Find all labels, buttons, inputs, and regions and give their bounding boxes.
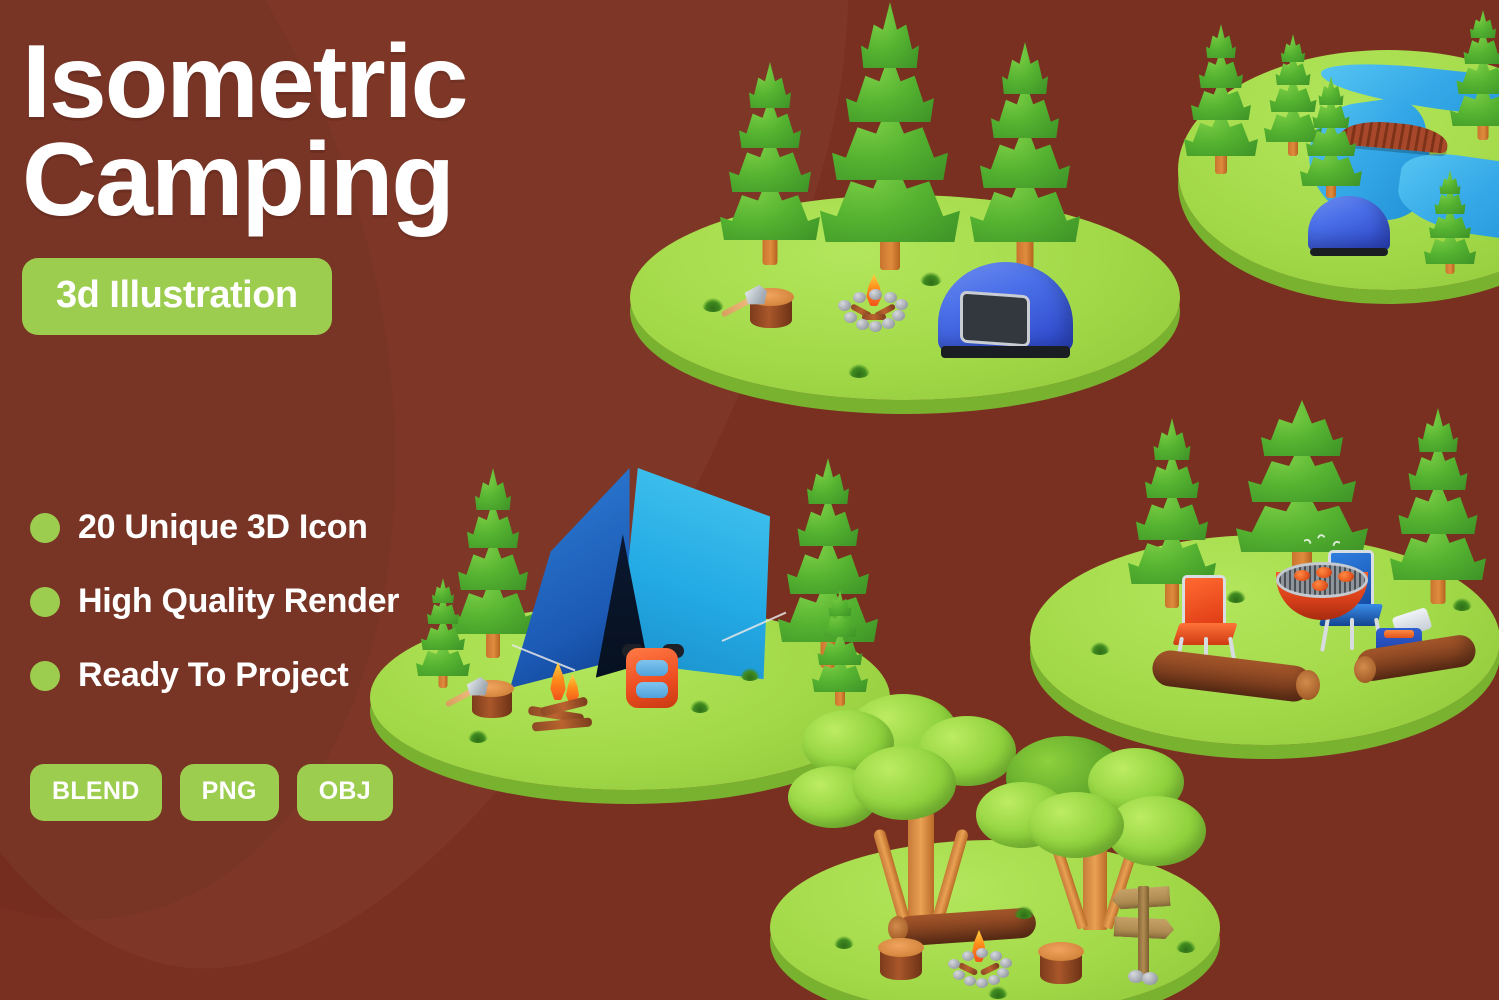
tree-trunk bbox=[1431, 578, 1446, 604]
pine-tree bbox=[1300, 76, 1362, 198]
pine-tree bbox=[1424, 170, 1476, 274]
grass-tuft bbox=[920, 272, 942, 286]
grass-tuft bbox=[1014, 906, 1034, 919]
cooler-contents bbox=[1384, 630, 1414, 638]
tree-tier bbox=[861, 2, 919, 68]
tree-trunk bbox=[486, 632, 500, 658]
fire-stone bbox=[869, 321, 882, 332]
tree-tier bbox=[1261, 400, 1343, 456]
log-end bbox=[1354, 656, 1376, 683]
fire-stone bbox=[856, 319, 869, 330]
tree-tier bbox=[1206, 24, 1236, 58]
axe-in-stump-icon bbox=[470, 680, 514, 718]
grass-tuft bbox=[740, 668, 760, 681]
pine-tree bbox=[720, 60, 820, 265]
tree-stump-icon bbox=[878, 938, 924, 980]
page-title-line2: Camping bbox=[22, 132, 682, 230]
fire-stone bbox=[895, 299, 908, 310]
promo-panel: Isometric Camping 3d Illustration bbox=[22, 34, 682, 335]
log-end bbox=[1296, 670, 1320, 700]
grass-tuft bbox=[1452, 598, 1472, 611]
grass-tuft bbox=[848, 364, 870, 378]
tent-base bbox=[1310, 248, 1389, 256]
campfire-icon bbox=[838, 288, 908, 334]
dot-icon bbox=[30, 661, 60, 691]
broadleaf-tree bbox=[970, 720, 1220, 930]
fire-stone bbox=[892, 310, 905, 321]
feature-item: Ready To Project bbox=[30, 656, 399, 695]
format-tag-png: PNG bbox=[180, 764, 279, 821]
grill-patty bbox=[1294, 570, 1310, 581]
fire-stone bbox=[838, 300, 851, 311]
feature-label: Ready To Project bbox=[78, 656, 348, 695]
grass-tuft bbox=[1226, 590, 1246, 603]
tree-tier bbox=[1470, 10, 1496, 38]
fire-stone bbox=[844, 312, 857, 323]
chair-back bbox=[1182, 575, 1226, 627]
grass-tuft bbox=[1176, 940, 1196, 953]
fire-stone bbox=[953, 970, 965, 980]
poster-canvas: Isometric Camping 3d Illustration 20 Uni… bbox=[0, 0, 1499, 1000]
campfire-icon bbox=[528, 680, 602, 732]
grass-tuft bbox=[690, 700, 710, 713]
fire-stone bbox=[882, 318, 895, 329]
feature-item: 20 Unique 3D Icon bbox=[30, 508, 399, 547]
signpost-base-stone bbox=[1142, 972, 1158, 985]
grass-tuft bbox=[834, 936, 854, 949]
page-title-line1: Isometric bbox=[22, 34, 682, 132]
scene-riverside-camp bbox=[1160, 10, 1499, 310]
fire-stone bbox=[990, 951, 1002, 961]
feature-label: High Quality Render bbox=[78, 582, 399, 621]
scene-shade-trees bbox=[770, 690, 1240, 1000]
grass-tuft bbox=[702, 298, 724, 312]
fire-stone bbox=[962, 951, 974, 961]
format-tag-obj: OBJ bbox=[297, 764, 393, 821]
tent-door bbox=[960, 291, 1030, 347]
leaf-clump bbox=[852, 746, 956, 820]
pine-tree bbox=[970, 40, 1080, 270]
signpost-pole bbox=[1138, 886, 1149, 978]
tent-body bbox=[1308, 196, 1390, 252]
tree-tier bbox=[1418, 408, 1458, 452]
tree-stump-icon bbox=[1038, 942, 1084, 984]
pine-tree bbox=[820, 0, 960, 270]
tent-base bbox=[941, 346, 1071, 358]
tree-tier bbox=[1440, 170, 1461, 194]
feature-item: High Quality Render bbox=[30, 582, 399, 621]
grill-leg bbox=[1272, 608, 1286, 656]
tree-branch bbox=[873, 828, 910, 920]
tree-branch bbox=[933, 828, 970, 920]
pine-tree bbox=[812, 590, 868, 706]
tree-tier bbox=[829, 590, 852, 616]
dot-icon bbox=[30, 587, 60, 617]
fire-stone bbox=[964, 976, 976, 986]
axe-in-stump-icon bbox=[748, 288, 794, 328]
fire-stone bbox=[884, 292, 897, 303]
leaf-clump bbox=[1028, 792, 1124, 858]
backpack-body bbox=[626, 648, 678, 708]
signpost-icon bbox=[1112, 882, 1182, 990]
format-tag-list: BLEND PNG OBJ bbox=[30, 764, 393, 821]
scene-forest-campsite bbox=[620, 0, 1190, 420]
fire-stone bbox=[976, 948, 988, 958]
grill-patty bbox=[1316, 567, 1332, 578]
blue-dome-tent-icon bbox=[938, 262, 1073, 354]
blue-dome-tent-icon bbox=[1308, 196, 1390, 252]
tree-tier bbox=[1281, 34, 1305, 62]
tree-tier bbox=[475, 468, 511, 510]
grill-patty bbox=[1312, 580, 1328, 591]
grass-tuft bbox=[468, 730, 488, 743]
grill-patty bbox=[1338, 571, 1354, 582]
pine-tree bbox=[1390, 408, 1486, 604]
tree-tier bbox=[432, 578, 454, 603]
backpack-pocket bbox=[636, 682, 668, 698]
feature-list: 20 Unique 3D Icon High Quality Render Re… bbox=[30, 508, 399, 730]
backpack-icon bbox=[622, 640, 684, 712]
fire-stone bbox=[976, 978, 988, 988]
tree-tier bbox=[1154, 418, 1191, 460]
pine-tree bbox=[1450, 10, 1499, 140]
tree-tier bbox=[1002, 42, 1048, 94]
feature-label: 20 Unique 3D Icon bbox=[78, 508, 368, 547]
tree-trunk bbox=[908, 810, 934, 920]
tree-tier bbox=[749, 62, 791, 108]
backpack-pocket bbox=[636, 660, 668, 676]
fire-stone bbox=[869, 289, 882, 300]
tree-tier bbox=[807, 458, 849, 504]
grass-tuft bbox=[1090, 642, 1110, 655]
format-tag-blend: BLEND bbox=[30, 764, 162, 821]
fire-stone bbox=[948, 959, 960, 969]
fire-log bbox=[532, 717, 593, 731]
pine-tree bbox=[416, 578, 470, 688]
illustration-type-badge: 3d Illustration bbox=[22, 258, 332, 335]
fire-stone bbox=[997, 968, 1009, 978]
fire-stone bbox=[853, 292, 866, 303]
grass-tuft bbox=[988, 986, 1008, 999]
dot-icon bbox=[30, 513, 60, 543]
pine-tree bbox=[1184, 24, 1258, 174]
campfire-icon bbox=[948, 948, 1012, 990]
tree-tier bbox=[1319, 76, 1344, 105]
fire-stone bbox=[1000, 958, 1012, 968]
